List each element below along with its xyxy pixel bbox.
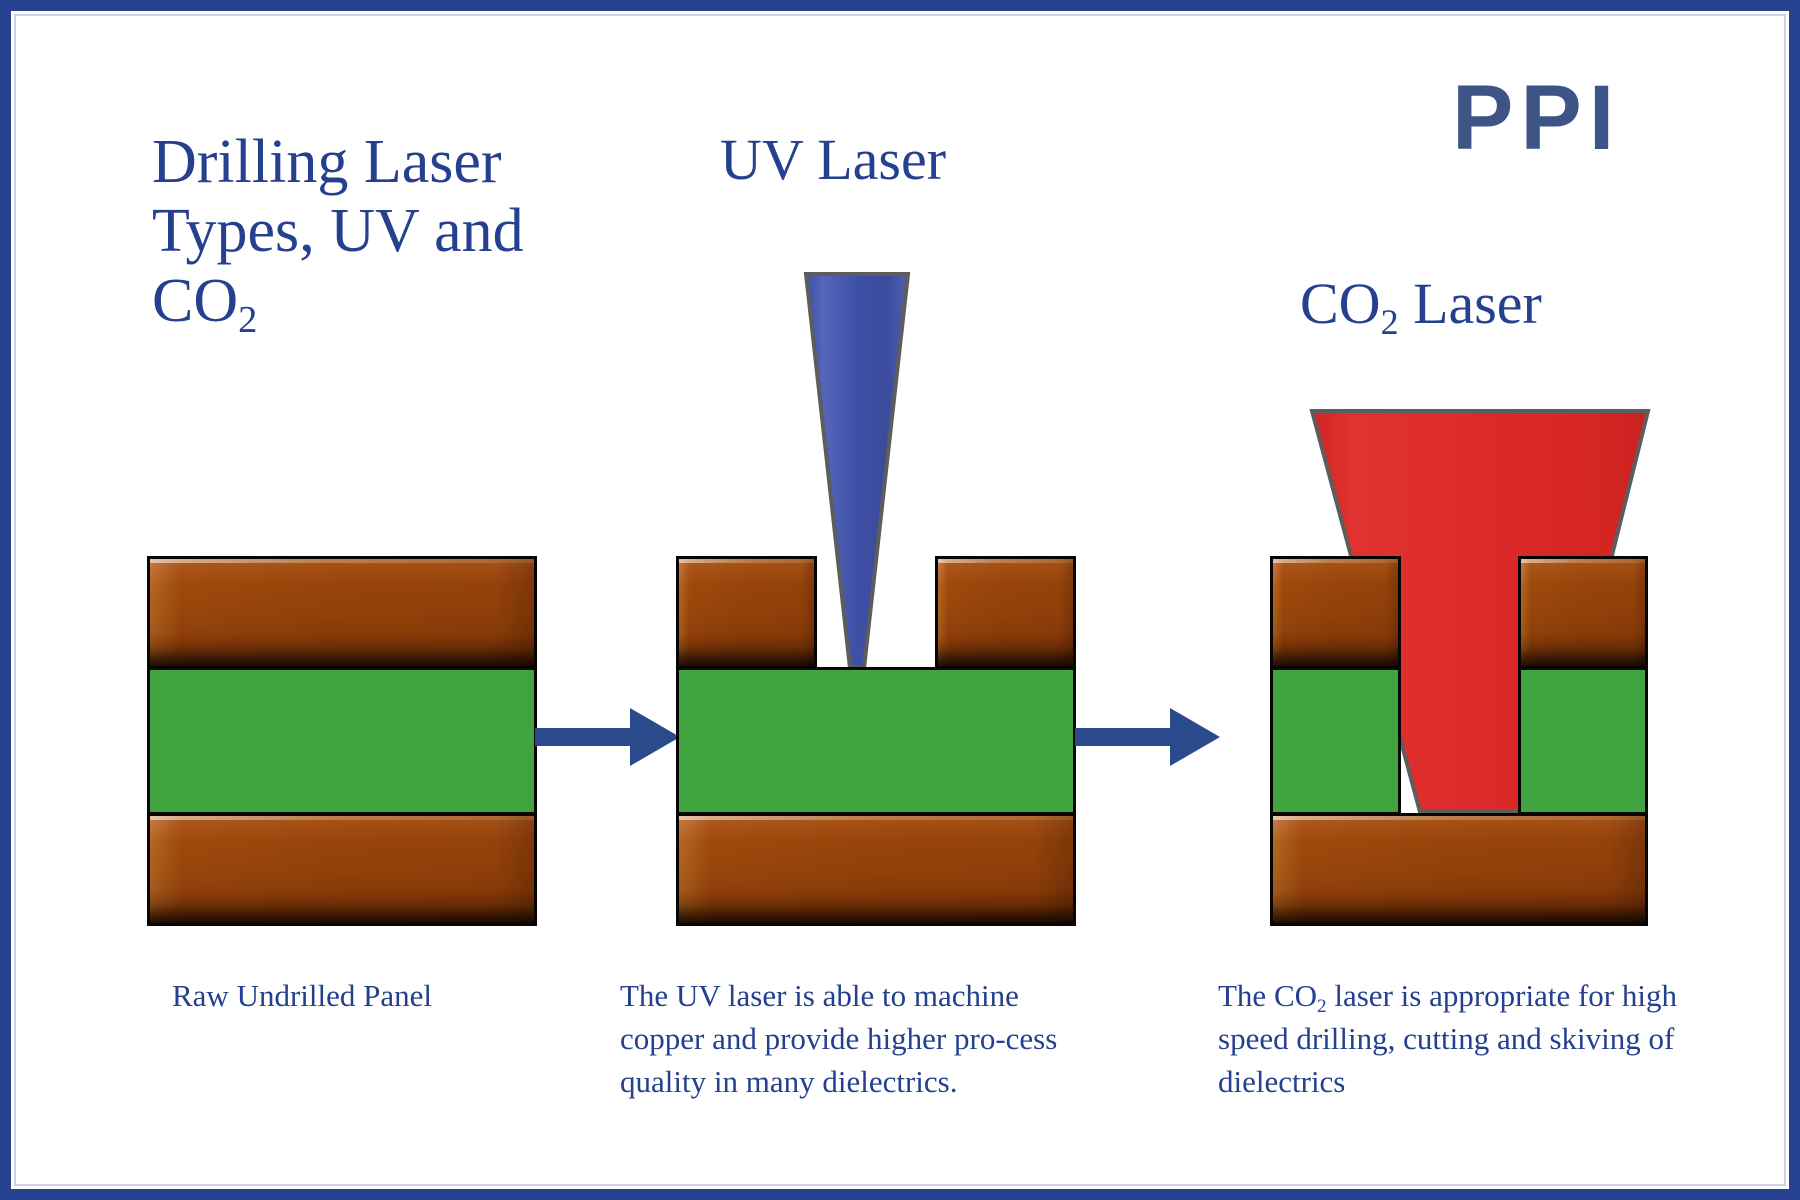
process-arrow-1 bbox=[535, 706, 680, 768]
caption-co2-panel: The CO2 laser is appropriate for high sp… bbox=[1218, 975, 1718, 1103]
copper-top-layer-left bbox=[1270, 556, 1401, 669]
dielectric-layer bbox=[147, 667, 537, 815]
ppi-logo: PPI bbox=[1452, 72, 1621, 164]
copper-bottom-layer bbox=[147, 813, 537, 926]
co2-heading-prefix: CO bbox=[1300, 271, 1381, 336]
uv-beam-shape bbox=[806, 274, 908, 668]
copper-top-layer-right bbox=[935, 556, 1076, 669]
copper-top-layer-right bbox=[1518, 556, 1648, 669]
co2-laser-heading: CO2 Laser bbox=[1300, 272, 1542, 337]
copper-top-layer-left bbox=[676, 556, 817, 669]
page-title-subscript: 2 bbox=[238, 299, 257, 341]
diagram-canvas: Drilling Laser Types, UV and CO2 UV Lase… bbox=[0, 0, 1800, 1200]
dielectric-layer-right bbox=[1518, 667, 1648, 815]
caption-uv-panel: The UV laser is able to machine copper a… bbox=[620, 975, 1110, 1103]
process-arrow-2 bbox=[1075, 706, 1220, 768]
dielectric-layer-left bbox=[1270, 667, 1401, 815]
arrow-shape bbox=[535, 708, 680, 766]
caption-raw-panel: Raw Undrilled Panel bbox=[172, 975, 572, 1018]
uv-laser-beam bbox=[800, 272, 920, 672]
co2-heading-suffix: Laser bbox=[1399, 271, 1542, 336]
copper-top-layer bbox=[147, 556, 537, 669]
page-title-text: Drilling Laser Types, UV and CO bbox=[152, 128, 524, 335]
uv-laser-heading: UV Laser bbox=[720, 128, 946, 193]
dielectric-layer bbox=[676, 667, 1076, 815]
caption-co2-part-a: The CO bbox=[1218, 978, 1317, 1013]
page-title: Drilling Laser Types, UV and CO2 bbox=[152, 128, 632, 336]
copper-bottom-layer bbox=[1270, 813, 1648, 926]
caption-co2-subscript: 2 bbox=[1317, 996, 1327, 1017]
arrow-shape bbox=[1075, 708, 1220, 766]
copper-bottom-layer bbox=[676, 813, 1076, 926]
co2-heading-subscript: 2 bbox=[1381, 302, 1399, 342]
